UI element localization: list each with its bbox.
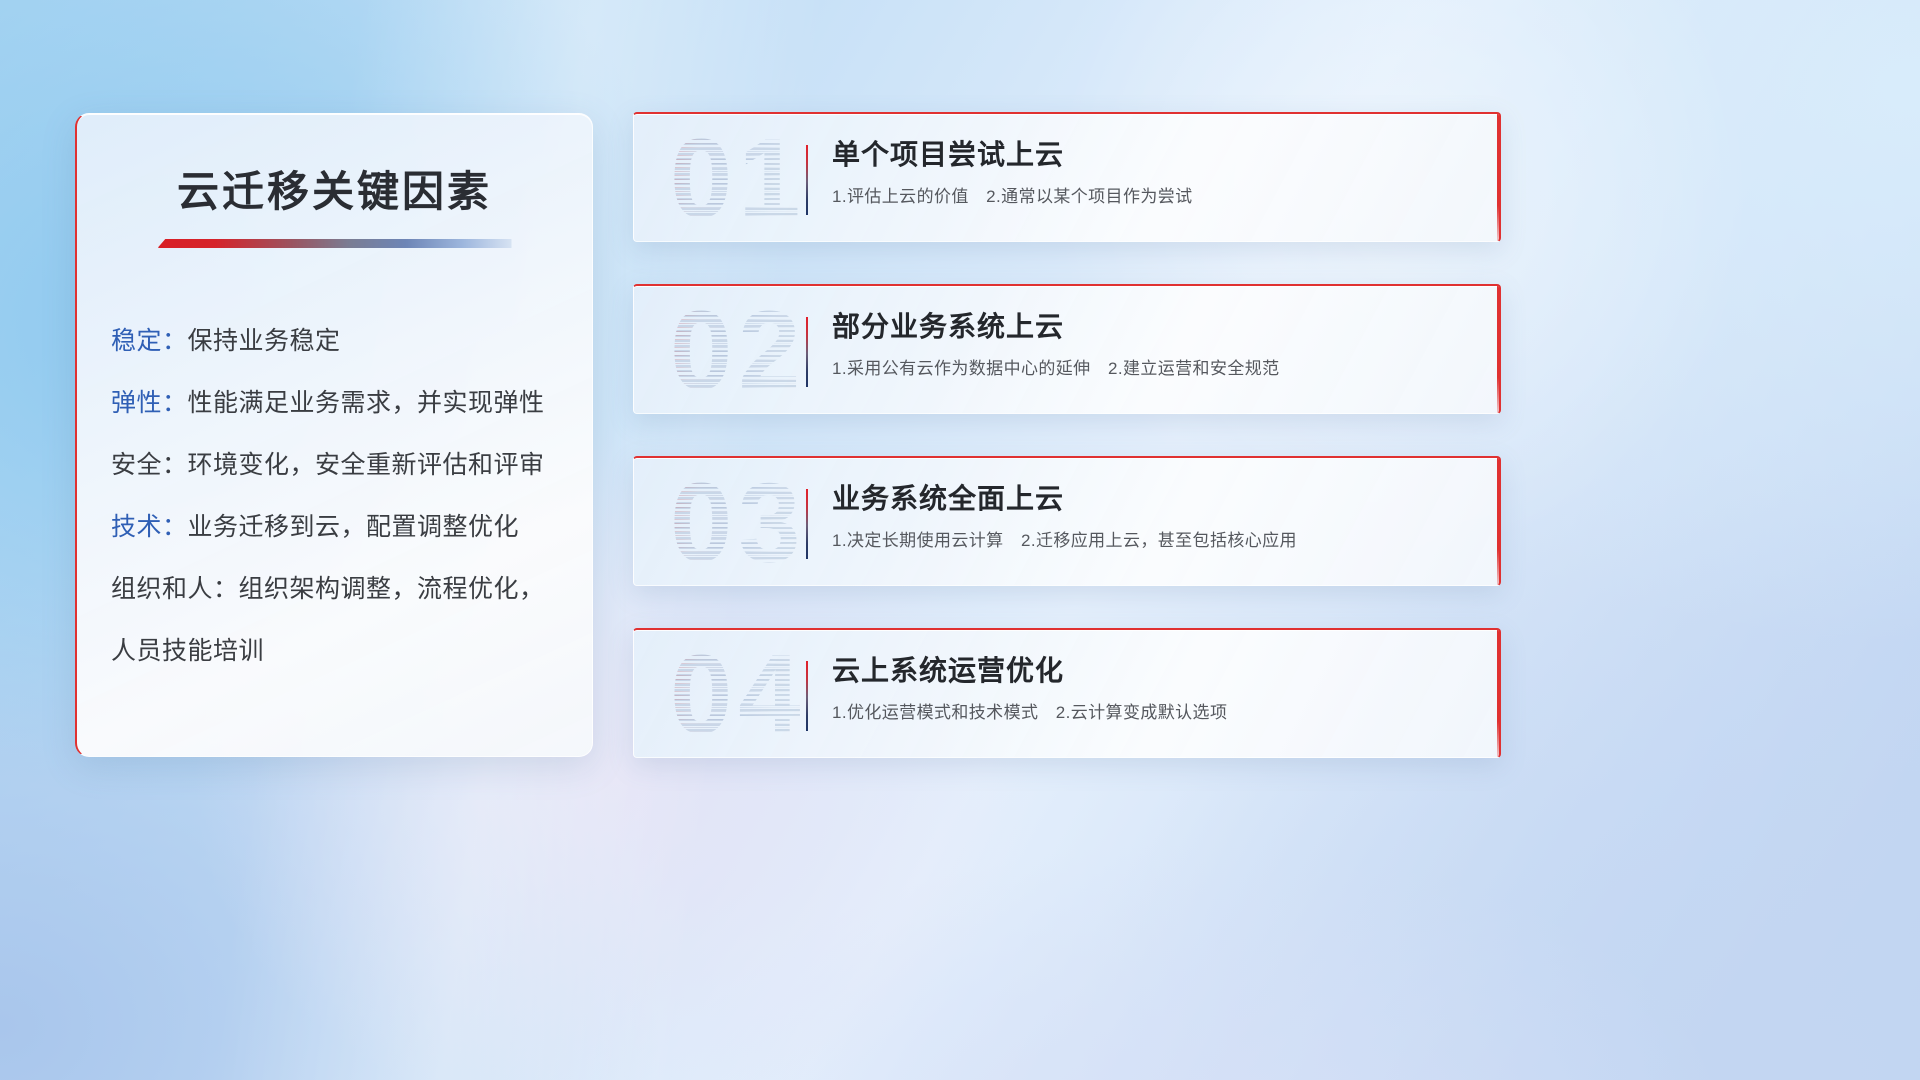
- step-title: 云上系统运营优化: [832, 650, 1227, 692]
- list-item: 稳定：保持业务稳定: [111, 310, 592, 372]
- step-divider: [806, 317, 808, 387]
- list-item: 弹性：性能满足业务需求，并实现弹性: [111, 372, 592, 434]
- factor-key: 安全：: [111, 451, 188, 479]
- step-divider: [806, 661, 808, 731]
- step-divider: [806, 489, 808, 559]
- title-underline-rule: [158, 239, 512, 248]
- step-title: 业务系统全面上云: [832, 478, 1297, 520]
- slide-stage: 云迁移关键因素 稳定：保持业务稳定 弹性：性能满足业务需求，并实现弹性 安全：环…: [0, 0, 1920, 1080]
- step-text-block: 业务系统全面上云 1.决定长期使用云计算 2.迁移应用上云，甚至包括核心应用: [832, 478, 1297, 554]
- list-item: 组织和人：组织架构调整，流程优化，: [111, 558, 592, 620]
- factor-key: 技术：: [111, 513, 188, 541]
- step-card[interactable]: 01 01 单个项目尝试上云 1.评估上云的价值 2.通常以某个项目作为尝试: [633, 112, 1501, 242]
- step-number: 01: [670, 112, 807, 242]
- step-number: 02: [670, 284, 807, 414]
- factor-value: 性能满足业务需求，并实现弹性: [188, 389, 545, 417]
- factor-key: 弹性：: [111, 389, 188, 417]
- step-number: 04: [670, 628, 807, 758]
- step-text-block: 部分业务系统上云 1.采用公有云作为数据中心的延伸 2.建立运营和安全规范: [832, 306, 1280, 382]
- step-description: 1.决定长期使用云计算 2.迁移应用上云，甚至包括核心应用: [832, 528, 1297, 554]
- step-text-block: 云上系统运营优化 1.优化运营模式和技术模式 2.云计算变成默认选项: [832, 650, 1227, 726]
- step-divider: [806, 145, 808, 215]
- factor-key: 稳定：: [111, 327, 188, 355]
- step-card[interactable]: 04 04 云上系统运营优化 1.优化运营模式和技术模式 2.云计算变成默认选项: [633, 628, 1501, 758]
- factor-list: 稳定：保持业务稳定 弹性：性能满足业务需求，并实现弹性 安全：环境变化，安全重新…: [111, 310, 592, 682]
- factor-value: 保持业务稳定: [188, 327, 341, 355]
- migration-steps-list: 01 01 单个项目尝试上云 1.评估上云的价值 2.通常以某个项目作为尝试 0…: [633, 112, 1501, 800]
- step-title: 部分业务系统上云: [832, 306, 1280, 348]
- list-item: 技术：业务迁移到云，配置调整优化: [111, 496, 592, 558]
- step-text-block: 单个项目尝试上云 1.评估上云的价值 2.通常以某个项目作为尝试: [832, 134, 1193, 210]
- step-description: 1.优化运营模式和技术模式 2.云计算变成默认选项: [832, 700, 1227, 726]
- step-title: 单个项目尝试上云: [832, 134, 1193, 176]
- list-item: 安全：环境变化，安全重新评估和评审: [111, 434, 592, 496]
- page-title: 云迁移关键因素: [77, 158, 592, 219]
- key-factors-panel: 云迁移关键因素 稳定：保持业务稳定 弹性：性能满足业务需求，并实现弹性 安全：环…: [75, 113, 593, 757]
- step-number: 03: [670, 456, 807, 586]
- list-item: 人员技能培训: [111, 620, 592, 682]
- step-card[interactable]: 02 02 部分业务系统上云 1.采用公有云作为数据中心的延伸 2.建立运营和安…: [633, 284, 1501, 414]
- step-card[interactable]: 03 03 业务系统全面上云 1.决定长期使用云计算 2.迁移应用上云，甚至包括…: [633, 456, 1501, 586]
- step-description: 1.评估上云的价值 2.通常以某个项目作为尝试: [832, 184, 1193, 210]
- factor-key: 组织和人：: [111, 575, 239, 603]
- step-description: 1.采用公有云作为数据中心的延伸 2.建立运营和安全规范: [832, 356, 1280, 382]
- factor-value: 组织架构调整，流程优化，: [239, 575, 545, 603]
- factor-value: 环境变化，安全重新评估和评审: [188, 451, 545, 479]
- factor-value: 业务迁移到云，配置调整优化: [188, 513, 520, 541]
- factor-value: 人员技能培训: [111, 637, 264, 665]
